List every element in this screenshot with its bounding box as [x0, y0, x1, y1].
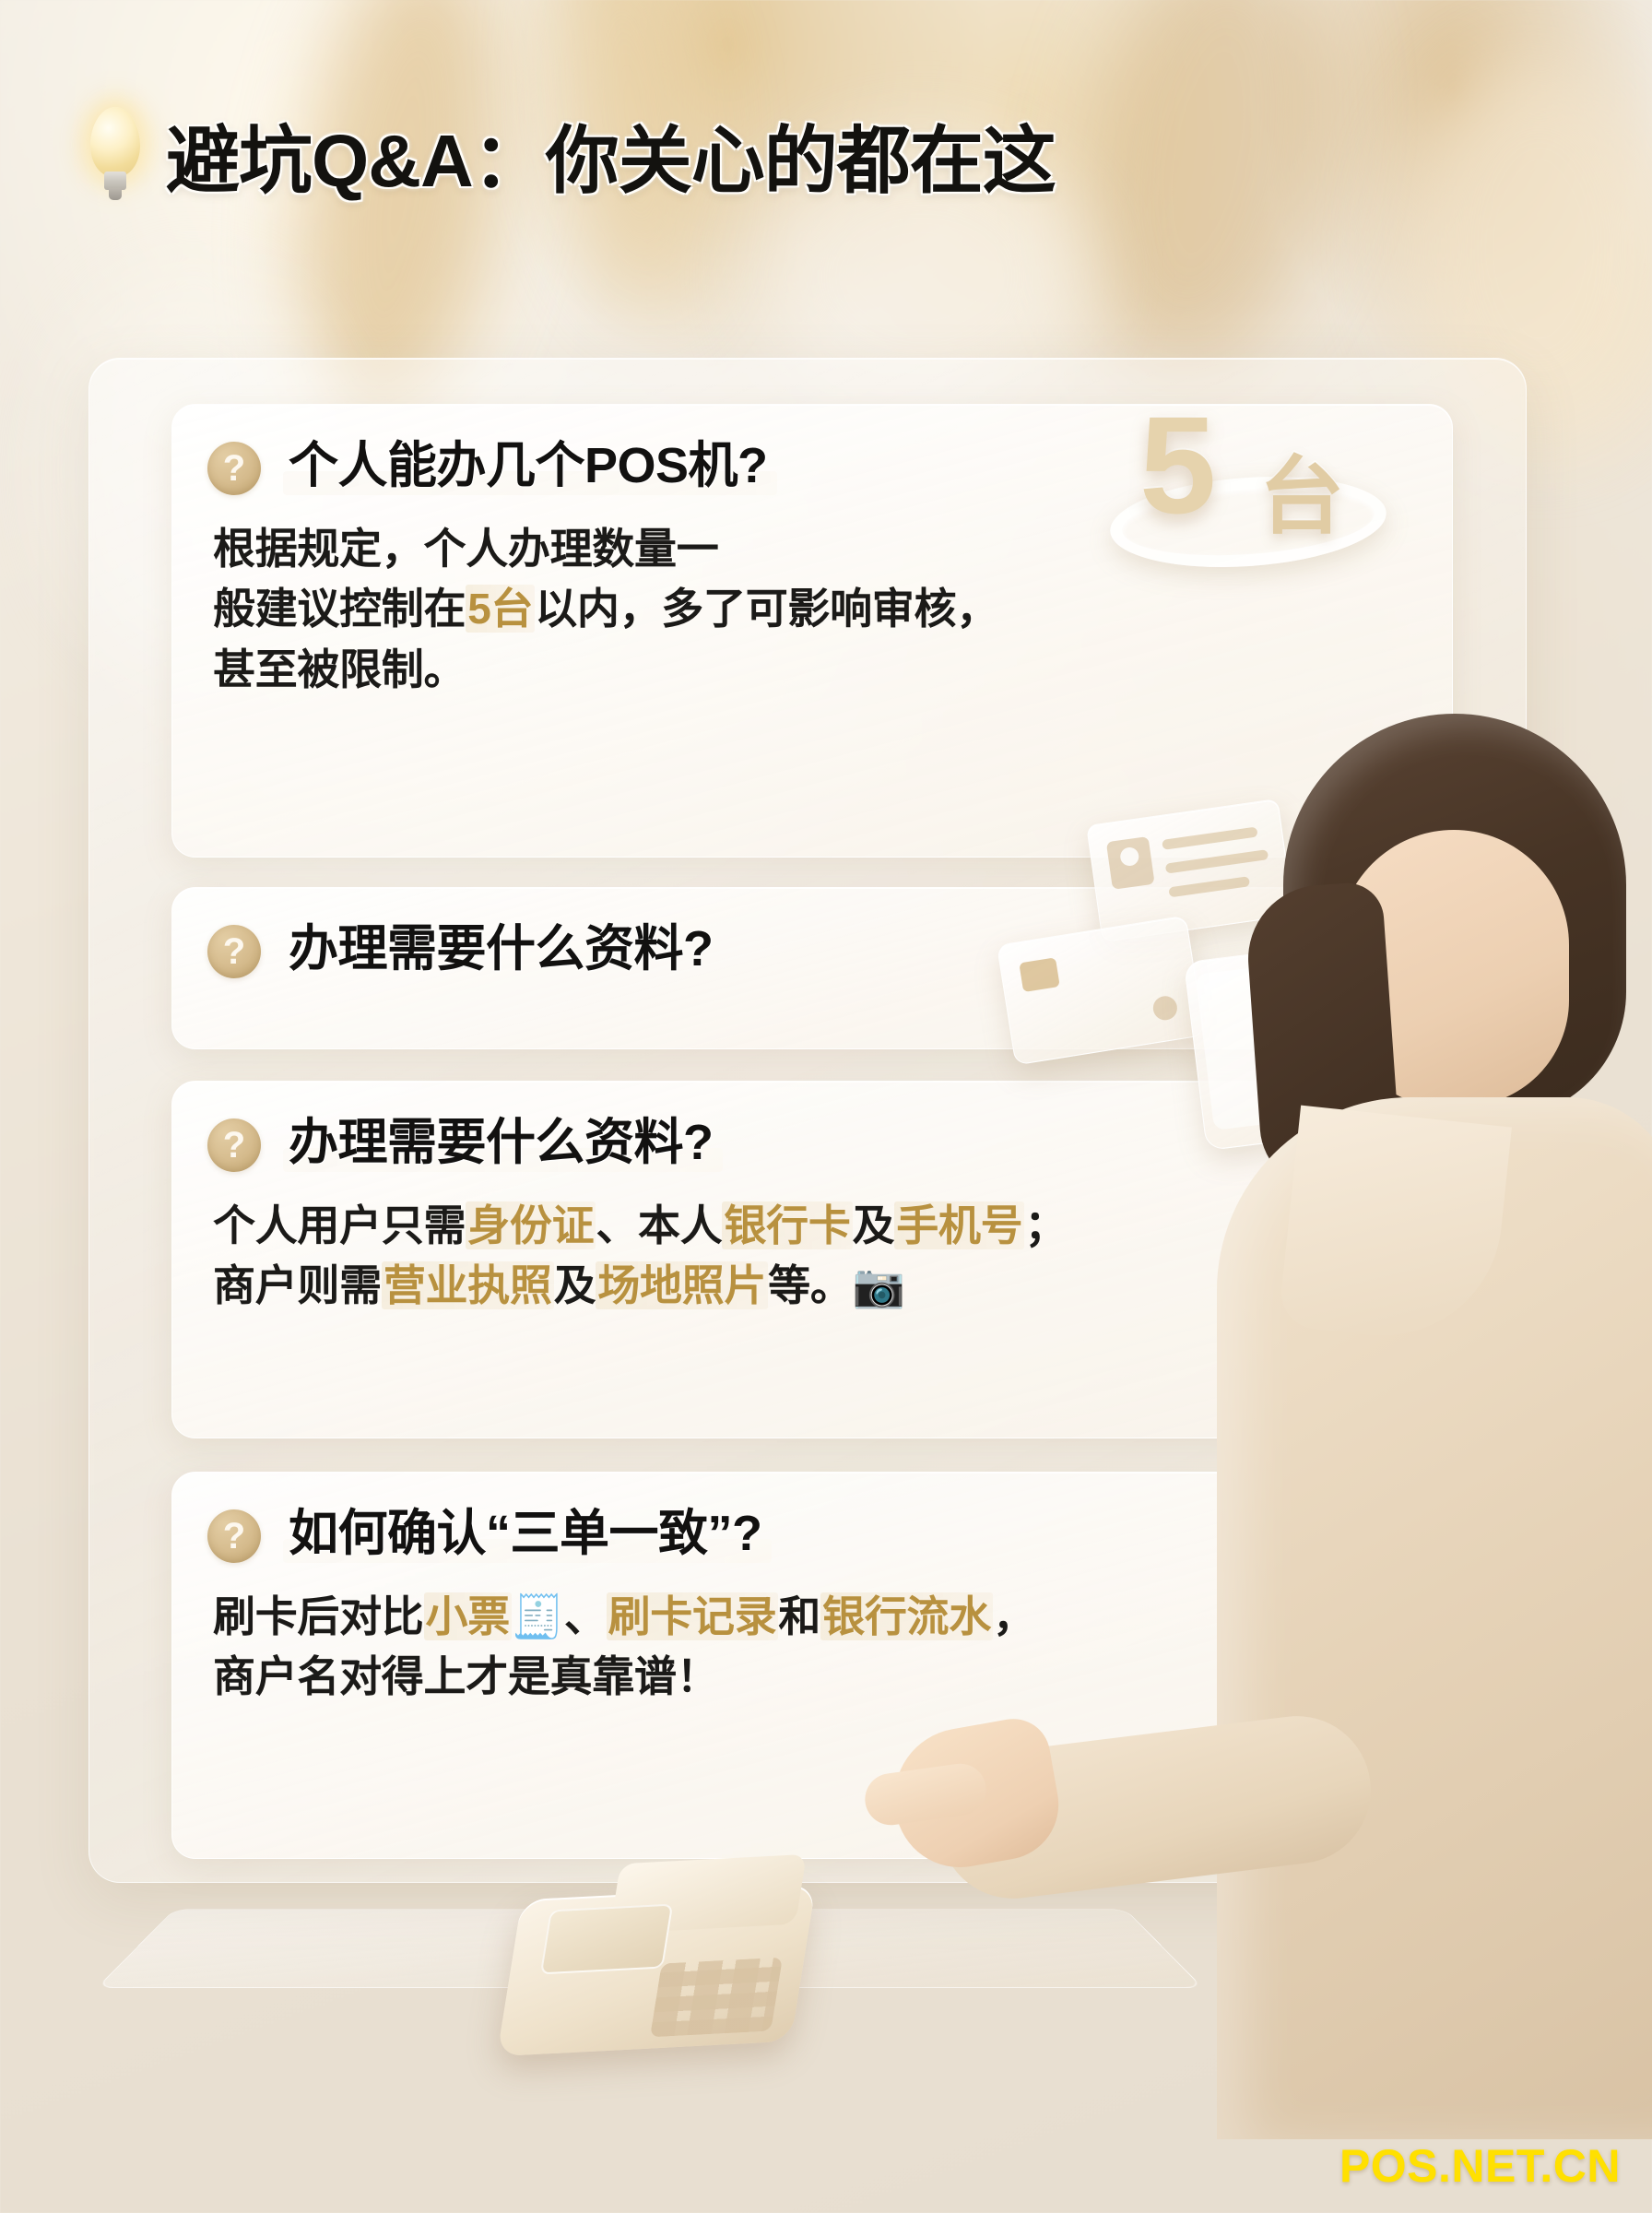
- qa-question-text: 办理需要什么资料?: [283, 1115, 719, 1170]
- watermark: POS.NET.CN: [1339, 2139, 1621, 2193]
- answer-segment: 及: [554, 1261, 596, 1309]
- lightbulb-icon: [88, 107, 142, 203]
- bank-card-icon: [997, 916, 1205, 1066]
- card-chip: [1019, 957, 1060, 992]
- answer-segment: 根据规定，个人办理数量一: [213, 525, 718, 573]
- question-mark-icon: ?: [207, 925, 261, 978]
- highlighted-term: 营业执照: [382, 1261, 554, 1309]
- question-mark-icon: ?: [207, 1118, 261, 1172]
- page-header: 避坑Q&A：你关心的都在这: [88, 101, 1056, 208]
- highlighted-term: 银行卡: [722, 1201, 852, 1249]
- answer-segment: ，: [993, 1592, 1035, 1640]
- qa-answer-line: 甚至被限制。: [213, 640, 1413, 700]
- five-units-3d-graphic: 5 台: [1097, 378, 1401, 599]
- answer-segment: 刷卡后对比: [213, 1592, 424, 1640]
- answer-segment: 甚至被限制。: [213, 645, 466, 693]
- highlighted-term: 场地照片: [596, 1261, 768, 1309]
- lightbulb-tip: [109, 188, 122, 200]
- lightbulb-base: [104, 172, 126, 190]
- id-line: [1165, 849, 1268, 873]
- highlighted-term: 5台: [466, 585, 535, 633]
- answer-segment: 个人用户只需: [213, 1201, 466, 1249]
- answer-segment: 商户名对得上才是真靠谱！: [213, 1652, 718, 1700]
- page-title: 避坑Q&A：你关心的都在这: [166, 101, 1056, 208]
- card-dot: [1151, 994, 1179, 1022]
- id-line: [1168, 876, 1250, 897]
- answer-segment: 、本人: [596, 1201, 722, 1249]
- answer-segment: 及: [853, 1201, 895, 1249]
- highlighted-term: 刷卡记录: [607, 1592, 779, 1640]
- answer-segment: 商户则需: [213, 1261, 382, 1309]
- graphic-number: 5: [1139, 385, 1216, 545]
- lightbulb-glass: [90, 107, 140, 177]
- highlighted-term: 身份证: [466, 1201, 596, 1249]
- qa-question-text: 办理需要什么资料?: [283, 921, 719, 976]
- highlighted-term: 手机号: [894, 1201, 1024, 1249]
- qa-question-text: 个人能办几个POS机?: [283, 438, 773, 493]
- pos-keypad: [650, 1958, 783, 2038]
- highlighted-term: 银行流水: [820, 1592, 993, 1640]
- question-mark-icon: ?: [207, 442, 261, 495]
- pos-screen: [540, 1904, 673, 1975]
- question-mark-icon: ?: [207, 1509, 261, 1563]
- graphic-unit: 台: [1259, 428, 1344, 550]
- answer-segment: 以内，多了可影响审核，: [535, 585, 998, 633]
- id-photo: [1106, 836, 1155, 890]
- answer-segment: 等。📷: [768, 1261, 904, 1309]
- answer-segment: 🧾、: [512, 1592, 607, 1640]
- answer-segment: 般建议控制在: [213, 585, 466, 633]
- qa-question-text: 如何确认“三单一致”?: [283, 1506, 768, 1561]
- id-line: [1162, 827, 1258, 850]
- pos-terminal-icon: [494, 1839, 822, 2078]
- answer-segment: ；: [1024, 1201, 1067, 1249]
- highlighted-term: 小票: [424, 1592, 512, 1640]
- answer-segment: 和: [778, 1592, 820, 1640]
